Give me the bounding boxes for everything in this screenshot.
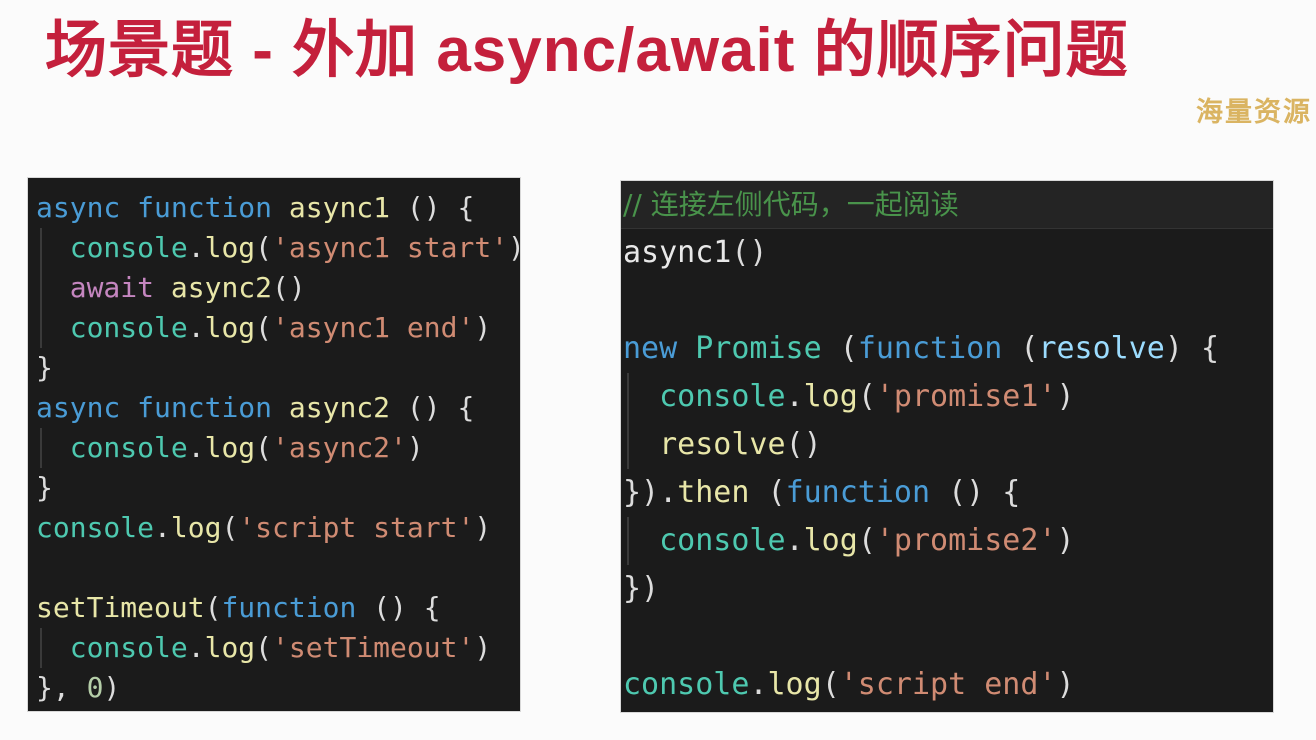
code-token: ) bbox=[474, 311, 491, 344]
code-token: 'script start' bbox=[238, 511, 474, 544]
code-left-line-3: await async2() bbox=[28, 268, 520, 308]
code-token: log bbox=[171, 511, 222, 544]
code-token: 'promise2' bbox=[876, 523, 1057, 558]
code-token: await bbox=[70, 271, 154, 304]
code-token bbox=[623, 283, 641, 318]
code-token: 'async2' bbox=[272, 431, 407, 464]
code-token: resolve bbox=[1038, 331, 1164, 366]
watermark-text: 海量资源 bbox=[1196, 90, 1316, 129]
code-token: console bbox=[70, 231, 188, 264]
code-token: log bbox=[205, 431, 256, 464]
code-token: console bbox=[70, 311, 188, 344]
code-token: ) bbox=[1057, 379, 1075, 414]
code-token: async bbox=[36, 391, 120, 424]
code-token: . bbox=[188, 631, 205, 664]
code-token: log bbox=[804, 523, 858, 558]
code-left-line-6: async function async2 () { bbox=[28, 388, 520, 428]
code-left-line-4: console.log('async1 end') bbox=[28, 308, 520, 348]
code-token: log bbox=[768, 667, 822, 702]
code-token bbox=[36, 231, 70, 264]
code-token: ( bbox=[858, 523, 876, 558]
code-token: ( bbox=[255, 431, 272, 464]
code-token: 'async1 start' bbox=[272, 231, 508, 264]
code-token: Promise bbox=[695, 331, 821, 366]
code-token: console bbox=[70, 631, 188, 664]
code-left-line-11: setTimeout(function () { bbox=[28, 588, 520, 628]
code-left-line-1: async function async1 () { bbox=[28, 188, 520, 228]
code-token: () bbox=[731, 235, 767, 270]
code-token: function bbox=[221, 591, 356, 624]
code-right-line-10 bbox=[621, 613, 1273, 661]
code-right-line-3 bbox=[621, 277, 1273, 325]
code-token: ( bbox=[858, 379, 876, 414]
code-token: ( bbox=[221, 511, 238, 544]
code-token: function bbox=[137, 191, 272, 224]
code-left-line-2: console.log('async1 start') bbox=[28, 228, 520, 268]
code-token: 'script end' bbox=[840, 667, 1057, 702]
code-token bbox=[120, 191, 137, 224]
code-token: 'promise1' bbox=[876, 379, 1057, 414]
code-left-line-12: console.log('setTimeout') bbox=[28, 628, 520, 668]
code-token bbox=[822, 331, 840, 366]
code-token: async1 bbox=[289, 191, 390, 224]
code-token: ) bbox=[407, 431, 424, 464]
code-left-line-13: }, 0) bbox=[28, 668, 520, 708]
code-token bbox=[623, 523, 659, 558]
code-right-line-8: console.log('promise2') bbox=[621, 517, 1273, 565]
code-token bbox=[120, 391, 137, 424]
code-token: ) bbox=[103, 671, 120, 704]
code-token: log bbox=[205, 311, 256, 344]
code-right-line-9: }) bbox=[621, 565, 1273, 613]
code-token: console bbox=[659, 523, 785, 558]
code-token: // 连接左侧代码，一起阅读 bbox=[623, 188, 959, 221]
code-right-line-4: new Promise (function (resolve) { bbox=[621, 325, 1273, 373]
code-right-line-6: resolve() bbox=[621, 421, 1273, 469]
code-token: () bbox=[272, 271, 306, 304]
code-token: ( bbox=[768, 475, 786, 510]
code-panel-right: // 连接左侧代码，一起阅读async1() new Promise (func… bbox=[621, 181, 1273, 712]
code-token: console bbox=[659, 379, 785, 414]
code-token bbox=[36, 431, 70, 464]
code-token: async1 bbox=[623, 235, 731, 270]
code-token: () { bbox=[373, 591, 440, 624]
code-token: 0 bbox=[87, 671, 104, 704]
code-token: . bbox=[786, 379, 804, 414]
code-token: async2 bbox=[289, 391, 390, 424]
code-token: . bbox=[188, 231, 205, 264]
code-token: function bbox=[137, 391, 272, 424]
code-token: console bbox=[70, 431, 188, 464]
code-token: }). bbox=[623, 475, 677, 510]
code-token: async2 bbox=[171, 271, 272, 304]
code-token: () { bbox=[948, 475, 1020, 510]
code-right-line-7: }).then (function () { bbox=[621, 469, 1273, 517]
code-token bbox=[749, 475, 767, 510]
code-token: ( bbox=[255, 631, 272, 664]
code-token: ) bbox=[474, 511, 491, 544]
code-token bbox=[36, 311, 70, 344]
code-left-line-10 bbox=[28, 548, 520, 588]
code-token bbox=[390, 391, 407, 424]
code-token bbox=[623, 427, 659, 462]
code-token bbox=[154, 271, 171, 304]
code-token bbox=[930, 475, 948, 510]
code-token: async bbox=[36, 191, 120, 224]
code-token: ( bbox=[822, 667, 840, 702]
code-token bbox=[36, 551, 53, 584]
code-token: }) bbox=[623, 571, 659, 606]
code-token: ) bbox=[508, 231, 520, 264]
code-left-line-9: console.log('script start') bbox=[28, 508, 520, 548]
code-token bbox=[36, 271, 70, 304]
code-token bbox=[1002, 331, 1020, 366]
code-token: ( bbox=[255, 231, 272, 264]
code-token: ) bbox=[474, 631, 491, 664]
code-token: . bbox=[749, 667, 767, 702]
code-token: ( bbox=[840, 331, 858, 366]
code-token: log bbox=[205, 231, 256, 264]
code-token: ) bbox=[1057, 523, 1075, 558]
code-token: . bbox=[786, 523, 804, 558]
code-token: ) bbox=[1057, 667, 1075, 702]
code-token: setTimeout bbox=[36, 591, 205, 624]
code-token: () bbox=[786, 427, 822, 462]
code-right-line-11: console.log('script end') bbox=[621, 661, 1273, 709]
code-panel-left: async function async1 () { console.log('… bbox=[28, 178, 520, 711]
code-left-line-8: } bbox=[28, 468, 520, 508]
code-token: ) { bbox=[1165, 331, 1219, 366]
code-token: 'async1 end' bbox=[272, 311, 474, 344]
code-token: . bbox=[188, 431, 205, 464]
code-token: ( bbox=[1020, 331, 1038, 366]
code-token: resolve bbox=[659, 427, 785, 462]
code-token bbox=[272, 191, 289, 224]
code-left-line-7: console.log('async2') bbox=[28, 428, 520, 468]
code-token: ( bbox=[205, 591, 222, 624]
code-token: ( bbox=[255, 311, 272, 344]
code-token: new bbox=[623, 331, 677, 366]
code-token bbox=[356, 591, 373, 624]
page-title: 场景题 - 外加 async/await 的顺序问题 bbox=[45, 12, 1129, 90]
code-token: () { bbox=[407, 191, 474, 224]
code-right-line-5: console.log('promise1') bbox=[621, 373, 1273, 421]
code-token: function bbox=[858, 331, 1003, 366]
code-token: } bbox=[36, 471, 53, 504]
code-token: then bbox=[677, 475, 749, 510]
code-token: } bbox=[36, 351, 53, 384]
code-token bbox=[623, 619, 641, 654]
code-token bbox=[677, 331, 695, 366]
code-token: . bbox=[188, 311, 205, 344]
code-right-line-2: async1() bbox=[621, 229, 1273, 277]
code-token: 'setTimeout' bbox=[272, 631, 474, 664]
code-token: . bbox=[154, 511, 171, 544]
code-token: log bbox=[804, 379, 858, 414]
code-token: console bbox=[623, 667, 749, 702]
code-token bbox=[36, 631, 70, 664]
code-token: console bbox=[36, 511, 154, 544]
code-token: function bbox=[786, 475, 931, 510]
code-token: () { bbox=[407, 391, 474, 424]
code-left-line-5: } bbox=[28, 348, 520, 388]
code-right-line-1: // 连接左侧代码，一起阅读 bbox=[621, 181, 1273, 229]
code-token bbox=[623, 379, 659, 414]
code-token bbox=[272, 391, 289, 424]
code-token: }, bbox=[36, 671, 87, 704]
code-token: log bbox=[205, 631, 256, 664]
code-token bbox=[390, 191, 407, 224]
